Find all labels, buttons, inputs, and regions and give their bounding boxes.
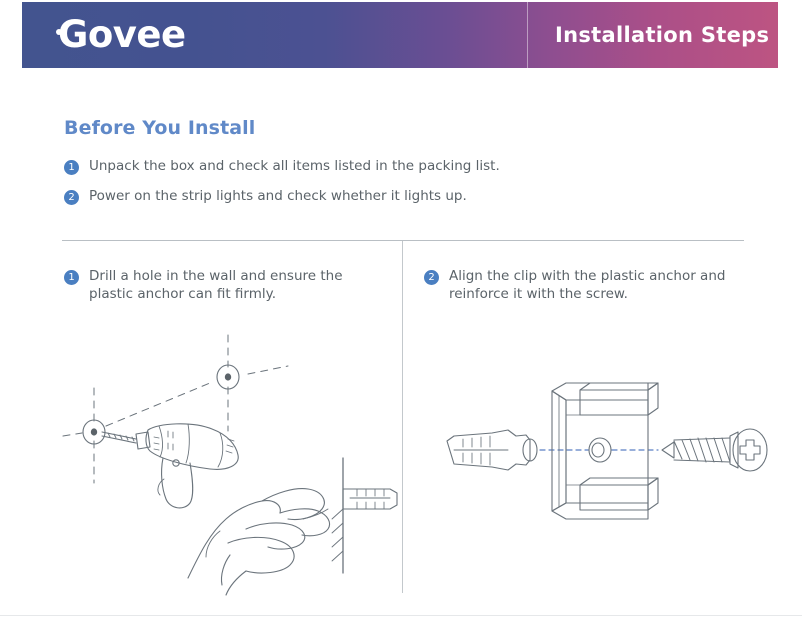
step-text: Align the clip with the plastic anchor a… [449,268,754,303]
page-title: Installation Steps [555,2,769,68]
govee-logo-text: Govee [58,13,186,56]
page-sheet: Govee Installation Steps Before You Inst… [0,0,802,620]
list-item-text: Power on the strip lights and check whet… [89,188,467,205]
step-column-right: 2 Align the clip with the plastic anchor… [424,268,754,303]
clip-anchor-screw-diagram [430,378,770,523]
before-you-install-list: 1 Unpack the box and check all items lis… [64,158,704,218]
header-vertical-divider [527,2,528,68]
list-item-text: Unpack the box and check all items liste… [89,158,500,175]
step-header: 1 Drill a hole in the wall and ensure th… [64,268,382,303]
step-badge-1: 1 [64,270,79,285]
list-item: 1 Unpack the box and check all items lis… [64,158,704,175]
drill-wall-anchor-diagram [60,333,400,598]
step-badge-2: 2 [64,190,79,205]
list-item: 2 Power on the strip lights and check wh… [64,188,704,205]
vertical-column-divider [402,241,403,593]
footer-rule [0,615,802,616]
horizontal-divider [62,240,744,241]
section-heading: Before You Install [64,117,255,139]
step-text: Drill a hole in the wall and ensure the … [89,268,382,303]
step-header: 2 Align the clip with the plastic anchor… [424,268,754,303]
content-area: Before You Install 1 Unpack the box and … [0,68,802,620]
step-badge-2: 2 [424,270,439,285]
step-column-left: 1 Drill a hole in the wall and ensure th… [64,268,382,303]
step-badge-1: 1 [64,160,79,175]
govee-logo-dot-icon [56,29,62,35]
header-banner: Govee Installation Steps [22,2,778,68]
govee-logo: Govee [58,10,186,58]
